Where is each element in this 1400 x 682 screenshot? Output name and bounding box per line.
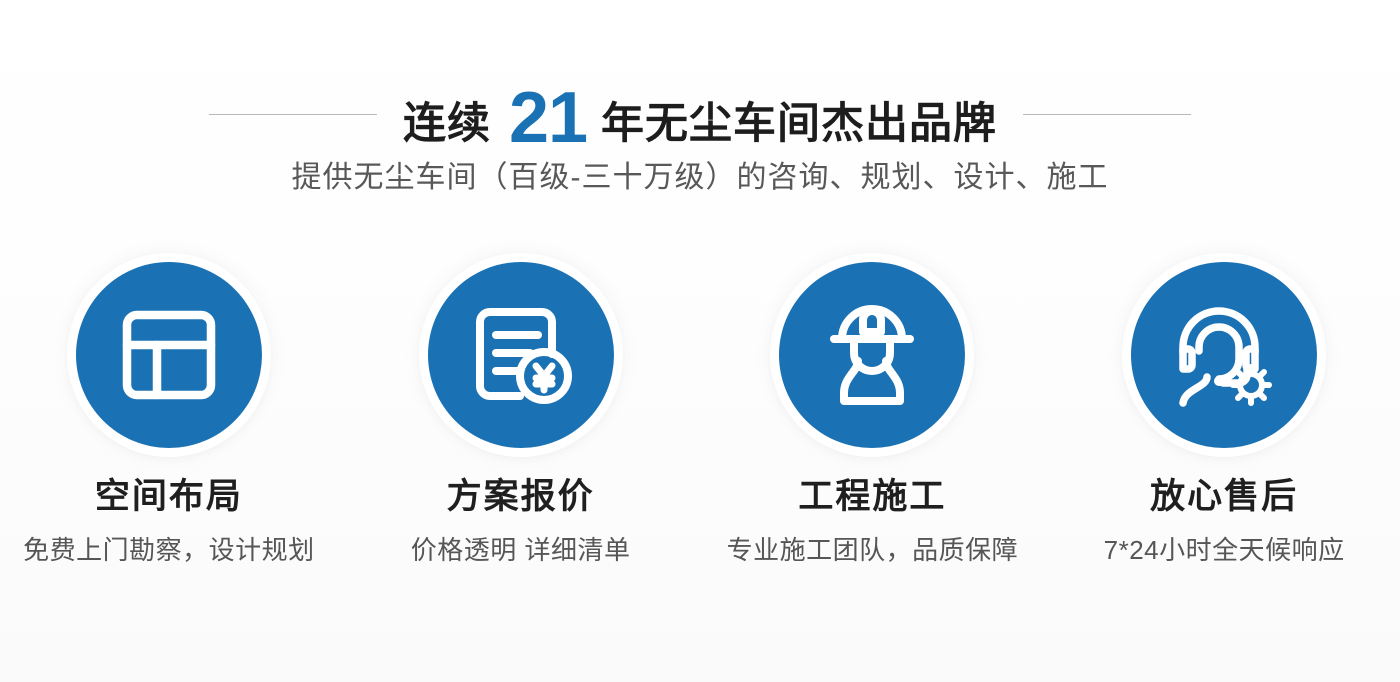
feature-icon-circle (1131, 262, 1317, 448)
feature-item-space-layout[interactable]: 空间布局 免费上门勘察，设计规划 (0, 262, 345, 566)
banner-header: 连续 21 年无尘车间杰出品牌 提供无尘车间（百级-三十万级）的咨询、规划、设计… (0, 0, 1400, 230)
headline: 连续 21 年无尘车间杰出品牌 (403, 78, 997, 150)
feature-icon-circle (76, 262, 262, 448)
promo-banner: 连续 21 年无尘车间杰出品牌 提供无尘车间（百级-三十万级）的咨询、规划、设计… (0, 0, 1400, 682)
left-rule-divider (209, 114, 377, 115)
customer-support-headset-gear-icon (1169, 301, 1279, 409)
quotation-document-yen-icon (468, 302, 574, 408)
right-rule-divider (1023, 114, 1191, 115)
feature-description: 7*24小时全天候响应 (1104, 535, 1345, 566)
feature-icon-circle (428, 262, 614, 448)
feature-title: 工程施工 (798, 478, 946, 517)
feature-description: 免费上门勘察，设计规划 (23, 535, 315, 566)
floorplan-layout-icon (117, 303, 221, 407)
feature-icon-circle (779, 262, 965, 448)
feature-description: 专业施工团队，品质保障 (727, 535, 1019, 566)
feature-title: 方案报价 (447, 478, 595, 517)
feature-list: 空间布局 免费上门勘察，设计规划 (0, 262, 1400, 566)
construction-worker-helmet-icon (820, 299, 924, 411)
feature-item-construction[interactable]: 工程施工 专业施工团队，品质保障 (697, 262, 1049, 566)
headline-row: 连续 21 年无尘车间杰出品牌 (0, 78, 1400, 150)
headline-suffix: 年无尘车间杰出品牌 (601, 103, 997, 146)
feature-title: 空间布局 (95, 478, 243, 517)
feature-item-quotation[interactable]: 方案报价 价格透明 详细清单 (345, 262, 697, 566)
headline-prefix: 连续 (403, 103, 491, 146)
feature-item-after-sales[interactable]: 放心售后 7*24小时全天候响应 (1048, 262, 1400, 566)
headline-years-number: 21 (509, 82, 587, 154)
feature-description: 价格透明 详细清单 (411, 535, 631, 566)
feature-title: 放心售后 (1150, 478, 1298, 517)
banner-subtitle: 提供无尘车间（百级-三十万级）的咨询、规划、设计、施工 (0, 158, 1400, 199)
